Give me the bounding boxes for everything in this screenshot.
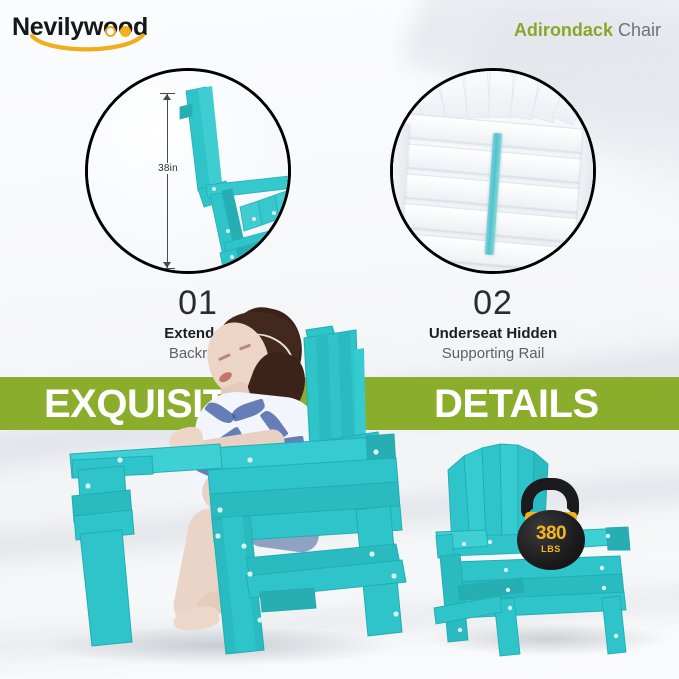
dimension-line: [167, 93, 168, 269]
product-title: Adirondack Chair: [514, 18, 661, 42]
dimension-cap: [160, 268, 175, 269]
dimension-arrow-down-icon: [163, 262, 171, 268]
adirondack-chair-left: [60, 320, 460, 665]
feature-circle-1: 38in: [85, 68, 291, 274]
chair-side-illustration: [162, 85, 291, 274]
chair-side-profile-image: 38in: [88, 71, 288, 271]
weight-capacity-badge: 380 LBS: [505, 478, 597, 570]
product-infographic: Nevilywood Adirondack Chair: [0, 0, 679, 679]
brand-logo: Nevilywood: [12, 12, 162, 54]
weight-unit: LBS: [517, 544, 585, 554]
dimension-arrow-up-icon: [163, 94, 171, 100]
feature-circle-2: [390, 68, 596, 274]
dimension-label: 38in: [146, 163, 190, 174]
product-title-strong: Adirondack: [514, 20, 613, 40]
underseat-rail-closeup-image: [393, 71, 593, 271]
weight-value: 380: [517, 524, 585, 544]
smile-swoosh-icon: [30, 34, 150, 56]
product-title-light: Chair: [618, 20, 661, 40]
